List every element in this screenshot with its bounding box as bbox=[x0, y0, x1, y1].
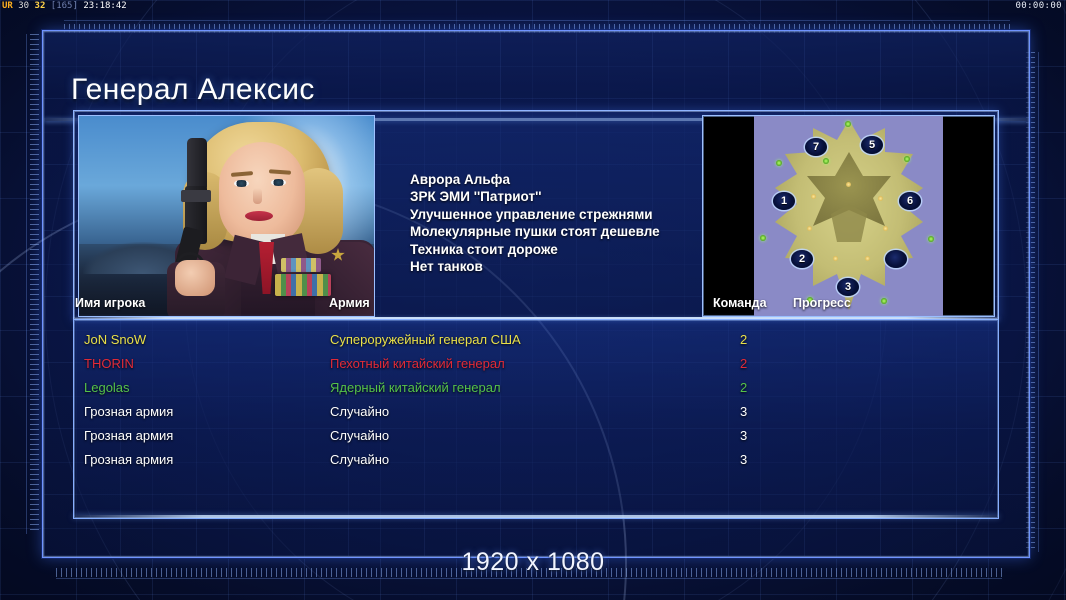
fps-alt-value: 32 bbox=[35, 1, 46, 11]
table-row[interactable]: Legolas Ядерный китайский генерал 2 bbox=[74, 376, 998, 400]
ability-line: Улучшенное управление стрежнями bbox=[410, 206, 660, 223]
load-progress-bar bbox=[792, 381, 985, 392]
ability-line: ЗРК ЭМИ ''Патриот'' bbox=[410, 188, 660, 205]
supply-point-icon bbox=[904, 156, 910, 162]
supply-point-icon bbox=[776, 160, 782, 166]
ability-line: Техника стоит дороже bbox=[410, 241, 660, 258]
load-progress-bar bbox=[792, 333, 985, 344]
oil-derrick-icon bbox=[883, 226, 888, 231]
supply-point-icon bbox=[928, 236, 934, 242]
player-army: Ядерный китайский генерал bbox=[330, 376, 501, 400]
ability-line: Аврора Альфа bbox=[410, 171, 660, 188]
supply-point-icon bbox=[845, 121, 851, 127]
column-header-name: Имя игрока bbox=[75, 296, 145, 310]
table-header-divider bbox=[73, 317, 999, 319]
loading-screen: UR 30 32 [165] 23:18:42 00:00:00 Генерал… bbox=[0, 0, 1066, 600]
player-team: 3 bbox=[740, 448, 747, 472]
table-bottom-glow bbox=[73, 515, 999, 518]
start-position-empty[interactable] bbox=[885, 250, 907, 268]
ability-line: Нет танков bbox=[410, 258, 660, 275]
start-position-5[interactable]: 5 bbox=[861, 136, 883, 154]
supply-point-icon bbox=[823, 158, 829, 164]
oil-derrick-icon bbox=[846, 182, 851, 187]
resolution-label: 1920 x 1080 bbox=[0, 548, 1066, 577]
player-name: THORIN bbox=[84, 352, 134, 376]
general-ability-list: Аврора Альфа ЗРК ЭМИ ''Патриот'' Улучшен… bbox=[410, 171, 660, 275]
player-team: 2 bbox=[740, 352, 747, 376]
start-position-7[interactable]: 7 bbox=[805, 138, 827, 156]
player-name: Грозная армия bbox=[84, 400, 173, 424]
table-row[interactable]: JoN SnoW Супероружейный генерал США 2 bbox=[74, 328, 998, 352]
column-header-progress: Прогресс bbox=[793, 296, 851, 310]
general-info-panel: Аврора Альфа ЗРК ЭМИ ''Патриот'' Улучшен… bbox=[73, 110, 999, 320]
start-position-6[interactable]: 6 bbox=[899, 192, 921, 210]
ability-line: Молекулярные пушки стоят дешевле bbox=[410, 223, 660, 240]
oil-derrick-icon bbox=[807, 226, 812, 231]
start-position-3[interactable]: 3 bbox=[837, 278, 859, 296]
oil-derrick-icon bbox=[833, 256, 838, 261]
oil-derrick-icon bbox=[811, 194, 816, 199]
general-portrait bbox=[78, 115, 375, 317]
player-army: Случайно bbox=[330, 448, 389, 472]
player-table-header: Имя игрока Армия Команда Прогресс bbox=[75, 296, 997, 316]
fps-value: 30 bbox=[18, 1, 29, 11]
session-time: 23:18:42 bbox=[83, 1, 126, 11]
column-header-team: Команда bbox=[713, 296, 767, 310]
start-position-2[interactable]: 2 bbox=[791, 250, 813, 268]
frame-line-left bbox=[26, 34, 27, 534]
main-panel: Генерал Алексис bbox=[42, 30, 1030, 558]
table-row[interactable]: Грозная армия Случайно 3 bbox=[74, 424, 998, 448]
frame-line-top bbox=[64, 20, 1010, 21]
fps-prefix: UR bbox=[2, 1, 13, 11]
match-clock: 00:00:00 bbox=[1015, 0, 1062, 13]
player-army: Случайно bbox=[330, 424, 389, 448]
frame-line-right bbox=[1038, 52, 1039, 552]
player-name: Legolas bbox=[84, 376, 130, 400]
player-team: 2 bbox=[740, 376, 747, 400]
start-position-1[interactable]: 1 bbox=[773, 192, 795, 210]
table-row[interactable]: Грозная армия Случайно 3 bbox=[74, 448, 998, 472]
load-progress-bar bbox=[792, 357, 985, 368]
map-preview[interactable]: 7 5 1 6 2 3 bbox=[702, 115, 995, 317]
page-title: Генерал Алексис bbox=[71, 73, 315, 107]
ruler-left-edge bbox=[30, 34, 39, 534]
fps-counter: UR 30 32 [165] 23:18:42 bbox=[2, 0, 127, 13]
supply-point-icon bbox=[760, 235, 766, 241]
player-team: 3 bbox=[740, 424, 747, 448]
fps-bracket-value: [165] bbox=[51, 1, 78, 11]
player-name: Грозная армия bbox=[84, 424, 173, 448]
hud-topbar: UR 30 32 [165] 23:18:42 00:00:00 bbox=[0, 0, 1066, 13]
table-row[interactable]: THORIN Пехотный китайский генерал 2 bbox=[74, 352, 998, 376]
table-row[interactable]: Грозная армия Случайно 3 bbox=[74, 400, 998, 424]
oil-derrick-icon bbox=[878, 196, 883, 201]
player-name: Грозная армия bbox=[84, 448, 173, 472]
player-army: Пехотный китайский генерал bbox=[330, 352, 505, 376]
column-header-army: Армия bbox=[329, 296, 370, 310]
player-table-body: JoN SnoW Супероружейный генерал США 2 TH… bbox=[73, 320, 999, 519]
player-team: 3 bbox=[740, 400, 747, 424]
player-army: Супероружейный генерал США bbox=[330, 328, 521, 352]
player-army: Случайно bbox=[330, 400, 389, 424]
frame-line-bottom bbox=[56, 578, 1002, 579]
player-name: JoN SnoW bbox=[84, 328, 146, 352]
oil-derrick-icon bbox=[865, 256, 870, 261]
player-team: 2 bbox=[740, 328, 747, 352]
